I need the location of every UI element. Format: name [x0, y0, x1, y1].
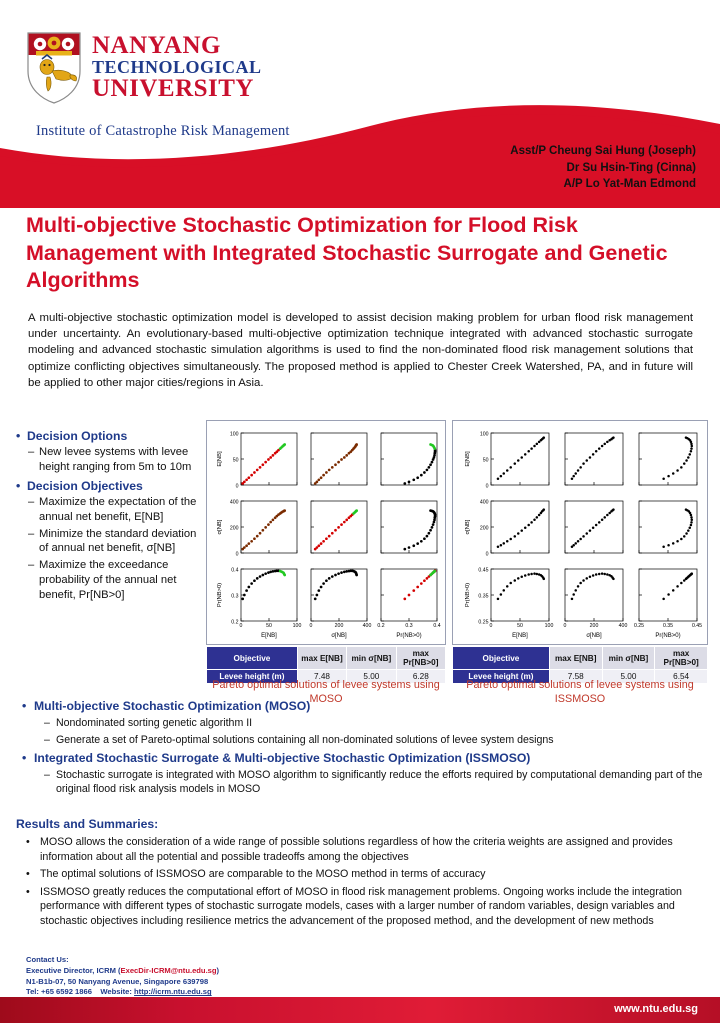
issmoso-item-1-text: Stochastic surrogate is integrated with … [56, 768, 720, 797]
results-list: • MOSO allows the consideration of a wid… [0, 832, 720, 928]
contact-website-label: Website: [100, 987, 132, 996]
decision-options-label: Decision Options [27, 429, 127, 443]
svg-text:100: 100 [545, 623, 554, 629]
moso-heading: • Multi-objective Stochastic Optimizatio… [0, 699, 720, 713]
svg-text:0.25: 0.25 [478, 619, 488, 625]
issmoso-heading-text: Integrated Stochastic Surrogate & Multi-… [34, 751, 530, 765]
bullet-dot-icon: • [22, 751, 34, 765]
svg-text:50: 50 [266, 623, 272, 629]
svg-text:0.45: 0.45 [478, 567, 488, 573]
dash-icon: – [28, 527, 39, 557]
institute-name: Institute of Catastrophe Risk Management [36, 123, 290, 140]
issmoso-item: – Stochastic surrogate is integrated wit… [0, 768, 720, 797]
svg-text:100: 100 [480, 431, 489, 437]
svg-text:400: 400 [363, 623, 372, 629]
moso-scatter-svg: 05010002004000.20.30.405010002004000.20.… [207, 421, 445, 644]
row-label-objective: Objective [453, 647, 550, 670]
results-heading: Results and Summaries: [16, 817, 158, 831]
svg-text:0.4: 0.4 [433, 623, 440, 629]
author-2: Dr Su Hsin-Ting (Cinna) [510, 160, 696, 177]
ntu-wordmark: NANYANG TECHNOLOGICAL UNIVERSITY [92, 31, 262, 101]
svg-text:0: 0 [490, 623, 493, 629]
row-label-objective: Objective [207, 647, 298, 670]
svg-text:0.3: 0.3 [231, 593, 238, 599]
svg-text:σ[NB]: σ[NB] [331, 633, 347, 639]
svg-text:E[NB]: E[NB] [261, 633, 277, 639]
dash-icon: – [44, 768, 56, 797]
decision-objective-item: – Minimize the standard deviation of ann… [16, 527, 206, 557]
result-item: • ISSMOSO greatly reduces the computatio… [0, 885, 720, 929]
svg-text:400: 400 [619, 623, 628, 629]
objective-1-text: Maximize the expectation of the annual n… [39, 495, 206, 525]
contact-website-url[interactable]: http://icrm.ntu.edu.sg [134, 987, 212, 996]
decision-options-heading: • Decision Options [16, 429, 206, 443]
moso-item: – Nondominated sorting genetic algorithm… [0, 716, 720, 730]
bullet-dot-icon: • [16, 429, 27, 443]
svg-text:400: 400 [230, 499, 239, 505]
svg-text:Pr(NB>0): Pr(NB>0) [655, 633, 680, 639]
svg-text:50: 50 [517, 623, 523, 629]
svg-text:σ[NB]: σ[NB] [465, 519, 471, 534]
decision-options-item: – New levee systems with levee height ra… [16, 445, 206, 475]
contact-paren: ) [217, 966, 220, 975]
svg-text:Pr(NB>0): Pr(NB>0) [465, 583, 471, 607]
abstract-text: A multi-objective stochastic optimizatio… [28, 310, 693, 391]
dash-icon: – [28, 445, 39, 475]
svg-text:Pr(NB>0): Pr(NB>0) [396, 633, 421, 639]
svg-text:0.2: 0.2 [231, 619, 238, 625]
contact-tel: Tel: +65 6592 1866 [26, 987, 92, 996]
chart-moso-matrix: 05010002004000.20.30.405010002004000.20.… [206, 420, 446, 645]
svg-text:0: 0 [486, 483, 489, 489]
contact-director-line: Executive Director, ICRM (ExecDir-ICRM@n… [26, 966, 219, 977]
col-max-enb: max E[NB] [297, 647, 346, 670]
wordmark-line-3: UNIVERSITY [92, 76, 262, 101]
bullet-dot-icon: • [26, 885, 40, 929]
decision-objectives-heading: • Decision Objectives [16, 479, 206, 493]
poster-title: Multi-objective Stochastic Optimization … [26, 212, 686, 295]
svg-text:0.25: 0.25 [634, 623, 644, 629]
svg-text:0.35: 0.35 [663, 623, 673, 629]
decision-column: • Decision Options – New levee systems w… [16, 425, 206, 603]
svg-text:0: 0 [486, 551, 489, 557]
bullet-dot-icon: • [22, 699, 34, 713]
issmoso-heading: • Integrated Stochastic Surrogate & Mult… [0, 751, 720, 765]
svg-text:σ[NB]: σ[NB] [586, 633, 602, 639]
middle-section: • Decision Options – New levee systems w… [0, 420, 720, 695]
footer-bar: www.ntu.edu.sg [0, 997, 720, 1023]
col-max-enb: max E[NB] [549, 647, 602, 670]
col-min-sigma: min σ[NB] [347, 647, 396, 670]
svg-text:200: 200 [590, 623, 599, 629]
dash-icon: – [44, 716, 56, 730]
decision-options-item-text: New levee systems with levee height rang… [39, 445, 206, 475]
svg-text:0.45: 0.45 [692, 623, 702, 629]
result-item-1-text: MOSO allows the consideration of a wide … [40, 835, 698, 864]
svg-text:0.35: 0.35 [478, 593, 488, 599]
author-3: A/P Lo Yat-Man Edmond [510, 176, 696, 193]
svg-text:σ[NB]: σ[NB] [217, 519, 223, 534]
decision-objective-item: – Maximize the exceedance probability of… [16, 558, 206, 603]
dash-icon: – [44, 733, 56, 747]
svg-text:0: 0 [236, 551, 239, 557]
ntu-crest-icon [26, 31, 82, 105]
contact-director-label: Executive Director, ICRM ( [26, 966, 121, 975]
poster-root: NANYANG TECHNOLOGICAL UNIVERSITY Institu… [0, 0, 720, 1023]
footer-url[interactable]: www.ntu.edu.sg [614, 1003, 698, 1015]
svg-text:50: 50 [233, 457, 239, 463]
objective-2-text: Minimize the standard deviation of annua… [39, 527, 206, 557]
bullet-dot-icon: • [26, 835, 40, 864]
table-row: Objective max E[NB] min σ[NB] max Pr[NB>… [207, 647, 446, 670]
issmoso-scatter-svg: 05010002004000.250.350.4505010002004000.… [453, 421, 707, 644]
svg-text:0.4: 0.4 [231, 567, 238, 573]
dash-icon: – [28, 558, 39, 603]
author-1: Asst/P Cheung Sai Hung (Joseph) [510, 143, 696, 160]
decision-objective-item: – Maximize the expectation of the annual… [16, 495, 206, 525]
svg-text:200: 200 [335, 623, 344, 629]
contact-email[interactable]: ExecDir-ICRM@ntu.edu.sg [121, 966, 217, 975]
col-min-sigma: min σ[NB] [602, 647, 655, 670]
result-item: • MOSO allows the consideration of a wid… [0, 835, 720, 864]
svg-text:E[NB]: E[NB] [465, 451, 471, 467]
svg-text:0.3: 0.3 [405, 623, 412, 629]
ntu-logo: NANYANG TECHNOLOGICAL UNIVERSITY [26, 31, 262, 105]
col-max-pr: max Pr[NB>0] [396, 647, 445, 670]
result-item: • The optimal solutions of ISSMOSO are c… [0, 867, 720, 882]
svg-text:100: 100 [293, 623, 302, 629]
svg-text:100: 100 [230, 431, 239, 437]
svg-text:200: 200 [480, 525, 489, 531]
col-max-pr: max Pr[NB>0] [655, 647, 708, 670]
wordmark-line-2: TECHNOLOGICAL [92, 58, 262, 76]
moso-item: – Generate a set of Pareto-optimal solut… [0, 733, 720, 747]
moso-heading-text: Multi-objective Stochastic Optimization … [34, 699, 310, 713]
bullet-dot-icon: • [16, 479, 27, 493]
contact-block: Contact Us: Executive Director, ICRM (Ex… [26, 955, 219, 998]
result-item-2-text: The optimal solutions of ISSMOSO are com… [40, 867, 486, 882]
poster-header: NANYANG TECHNOLOGICAL UNIVERSITY Institu… [0, 0, 720, 208]
author-list: Asst/P Cheung Sai Hung (Joseph) Dr Su Hs… [510, 143, 696, 193]
svg-text:0: 0 [240, 623, 243, 629]
table-row: Objective max E[NB] min σ[NB] max Pr[NB>… [453, 647, 708, 670]
contact-heading: Contact Us: [26, 955, 219, 966]
wordmark-line-1: NANYANG [92, 33, 262, 58]
svg-text:E[NB]: E[NB] [217, 451, 223, 467]
svg-text:50: 50 [483, 457, 489, 463]
methods-section: • Multi-objective Stochastic Optimizatio… [0, 696, 720, 796]
svg-text:0.2: 0.2 [377, 623, 384, 629]
dash-icon: – [28, 495, 39, 525]
svg-text:0: 0 [236, 483, 239, 489]
objective-3-text: Maximize the exceedance probability of t… [39, 558, 206, 603]
svg-text:400: 400 [480, 499, 489, 505]
svg-text:E[NB]: E[NB] [512, 633, 528, 639]
svg-text:Pr(NB>0): Pr(NB>0) [217, 583, 223, 607]
svg-text:0: 0 [310, 623, 313, 629]
svg-text:200: 200 [230, 525, 239, 531]
moso-item-2-text: Generate a set of Pareto-optimal solutio… [56, 733, 554, 747]
bullet-dot-icon: • [26, 867, 40, 882]
moso-item-1-text: Nondominated sorting genetic algorithm I… [56, 716, 252, 730]
chart-issmoso-matrix: 05010002004000.250.350.4505010002004000.… [452, 420, 708, 645]
result-item-3-text: ISSMOSO greatly reduces the computationa… [40, 885, 698, 929]
svg-text:0: 0 [564, 623, 567, 629]
contact-address: N1-B1b-07, 50 Nanyang Avenue, Singapore … [26, 977, 219, 988]
decision-objectives-label: Decision Objectives [27, 479, 143, 493]
